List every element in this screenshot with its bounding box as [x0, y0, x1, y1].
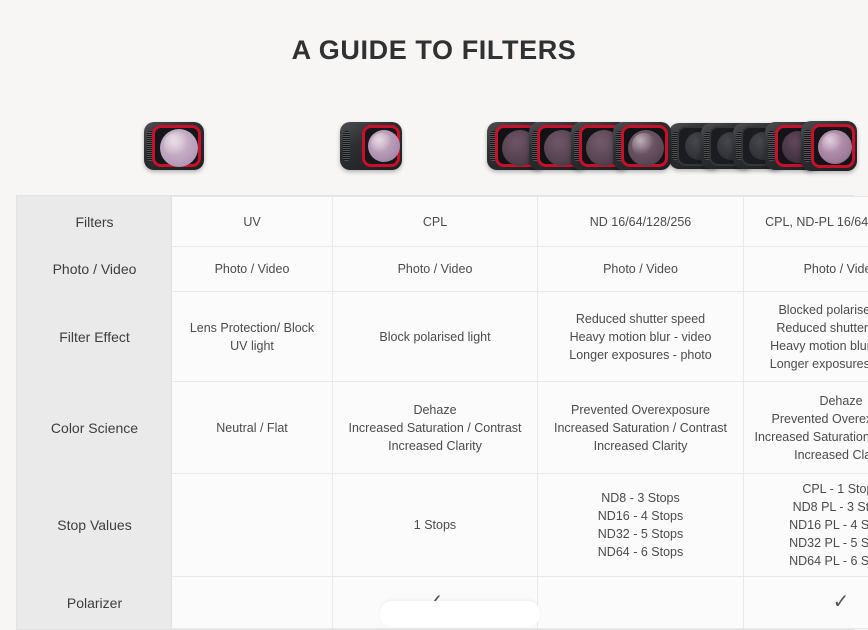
cell-uv: [172, 474, 333, 577]
cpl-ndpl-filter-set-image: [674, 100, 852, 192]
cell-line: UV light: [180, 337, 324, 355]
cell-line: UV: [180, 213, 324, 231]
cell-line: Heavy motion blur - video: [546, 328, 735, 346]
cell-uv: Neutral / Flat: [172, 382, 333, 474]
cell-uv: Photo / Video: [172, 247, 333, 292]
cell-line: Neutral / Flat: [180, 419, 324, 437]
table-row: Stop Values 1 Stops ND8 - 3 Stops ND16 -…: [18, 474, 868, 577]
cell-line: Dehaze: [752, 392, 868, 410]
checkmark-icon: ✓: [833, 591, 850, 613]
cell-line: Prevented Overexposure: [546, 401, 735, 419]
row-header: Filter Effect: [18, 292, 172, 382]
cell-line: ND64 PL - 6 Stops: [752, 552, 868, 570]
cell-line: ND32 PL - 5 Stops: [752, 534, 868, 552]
cell-nd: ND 16/64/128/256: [538, 197, 744, 247]
bottom-overlay-card: [380, 601, 540, 627]
cell-line: Photo / Video: [546, 260, 735, 278]
cell-nd: Photo / Video: [538, 247, 744, 292]
cell-uv: Lens Protection/ Block UV light: [172, 292, 333, 382]
cell-ndpl: CPL - 1 Stops ND8 PL - 3 Stops ND16 PL -…: [744, 474, 868, 577]
cell-nd: Reduced shutter speed Heavy motion blur …: [538, 292, 744, 382]
uv-filter-image: [102, 100, 246, 192]
cell-line: CPL - 1 Stops: [752, 480, 868, 498]
cell-line: Increased Clarity: [752, 446, 868, 464]
table-row: Color Science Neutral / Flat Dehaze Incr…: [18, 382, 868, 474]
filter-cpl: [340, 122, 402, 170]
cell-ndpl: Photo / Video: [744, 247, 868, 292]
nd-filter-set-image: [485, 100, 673, 192]
cell-cpl: Block polarised light: [333, 292, 538, 382]
filter-nd-4: [613, 122, 671, 170]
cell-cpl: Dehaze Increased Saturation / Contrast I…: [333, 382, 538, 474]
cpl-filter-image: [299, 100, 443, 192]
cell-uv: [172, 577, 333, 629]
table-row: Filters UV CPL ND 16/64/128/256 CPL, ND-…: [18, 197, 868, 247]
table-row: Filter Effect Lens Protection/ Block UV …: [18, 292, 868, 382]
cell-line: ND8 PL - 3 Stops: [752, 498, 868, 516]
cell-line: Reduced shutter speed: [752, 319, 868, 337]
cell-line: Prevented Overexposure: [752, 410, 868, 428]
cell-line: Photo / Video: [752, 260, 868, 278]
cell-line: Heavy motion blur - video: [752, 337, 868, 355]
cell-cpl: CPL: [333, 197, 538, 247]
cell-line: Increased Clarity: [546, 437, 735, 455]
cell-uv: UV: [172, 197, 333, 247]
row-header: Color Science: [18, 382, 172, 474]
product-image-strip: [16, 100, 852, 192]
cell-line: Longer exposures - photo: [752, 355, 868, 373]
cell-line: Block polarised light: [341, 328, 529, 346]
row-header: Photo / Video: [18, 247, 172, 292]
cell-line: Increased Clarity: [341, 437, 529, 455]
filters-comparison-table: Filters UV CPL ND 16/64/128/256 CPL, ND-…: [16, 195, 854, 630]
row-header: Filters: [18, 197, 172, 247]
table-body: Filters UV CPL ND 16/64/128/256 CPL, ND-…: [18, 197, 868, 629]
cell-line: ND8 - 3 Stops: [546, 489, 735, 507]
cell-ndpl: Blocked polarised light Reduced shutter …: [744, 292, 868, 382]
cell-line: Longer exposures - photo: [546, 346, 735, 364]
cell-line: Increased Saturation / Contrast: [341, 419, 529, 437]
cell-line: Photo / Video: [341, 260, 529, 278]
cell-nd: Prevented Overexposure Increased Saturat…: [538, 382, 744, 474]
row-header: Polarizer: [18, 577, 172, 629]
cell-ndpl: ✓: [744, 577, 868, 629]
cell-line: 1 Stops: [341, 516, 529, 534]
cell-nd: ND8 - 3 Stops ND16 - 4 Stops ND32 - 5 St…: [538, 474, 744, 577]
cell-line: ND32 - 5 Stops: [546, 525, 735, 543]
cell-line: ND16 - 4 Stops: [546, 507, 735, 525]
cell-ndpl: Dehaze Prevented Overexposure Increased …: [744, 382, 868, 474]
cell-line: Reduced shutter speed: [546, 310, 735, 328]
cell-line: Lens Protection/ Block: [180, 319, 324, 337]
cell-cpl: 1 Stops: [333, 474, 538, 577]
cell-ndpl: CPL, ND-PL 16/64/128/256: [744, 197, 868, 247]
cell-nd: [538, 577, 744, 629]
table-row: Photo / Video Photo / Video Photo / Vide…: [18, 247, 868, 292]
row-header: Stop Values: [18, 474, 172, 577]
page-title: A GUIDE TO FILTERS: [0, 0, 868, 67]
cell-line: CPL: [341, 213, 529, 231]
cell-cpl: Photo / Video: [333, 247, 538, 292]
cell-line: ND 16/64/128/256: [546, 213, 735, 231]
filter-ndpl-5: [801, 121, 857, 171]
cell-line: ND64 - 6 Stops: [546, 543, 735, 561]
cell-line: Photo / Video: [180, 260, 324, 278]
cell-line: Blocked polarised light: [752, 301, 868, 319]
filter-uv: [144, 122, 204, 170]
cell-line: Increased Saturation / Contrast: [546, 419, 735, 437]
cell-line: ND16 PL - 4 Stops: [752, 516, 868, 534]
cell-line: CPL, ND-PL 16/64/128/256: [752, 213, 868, 231]
cell-line: Dehaze: [341, 401, 529, 419]
cell-line: Increased Saturation / Contrast: [752, 428, 868, 446]
